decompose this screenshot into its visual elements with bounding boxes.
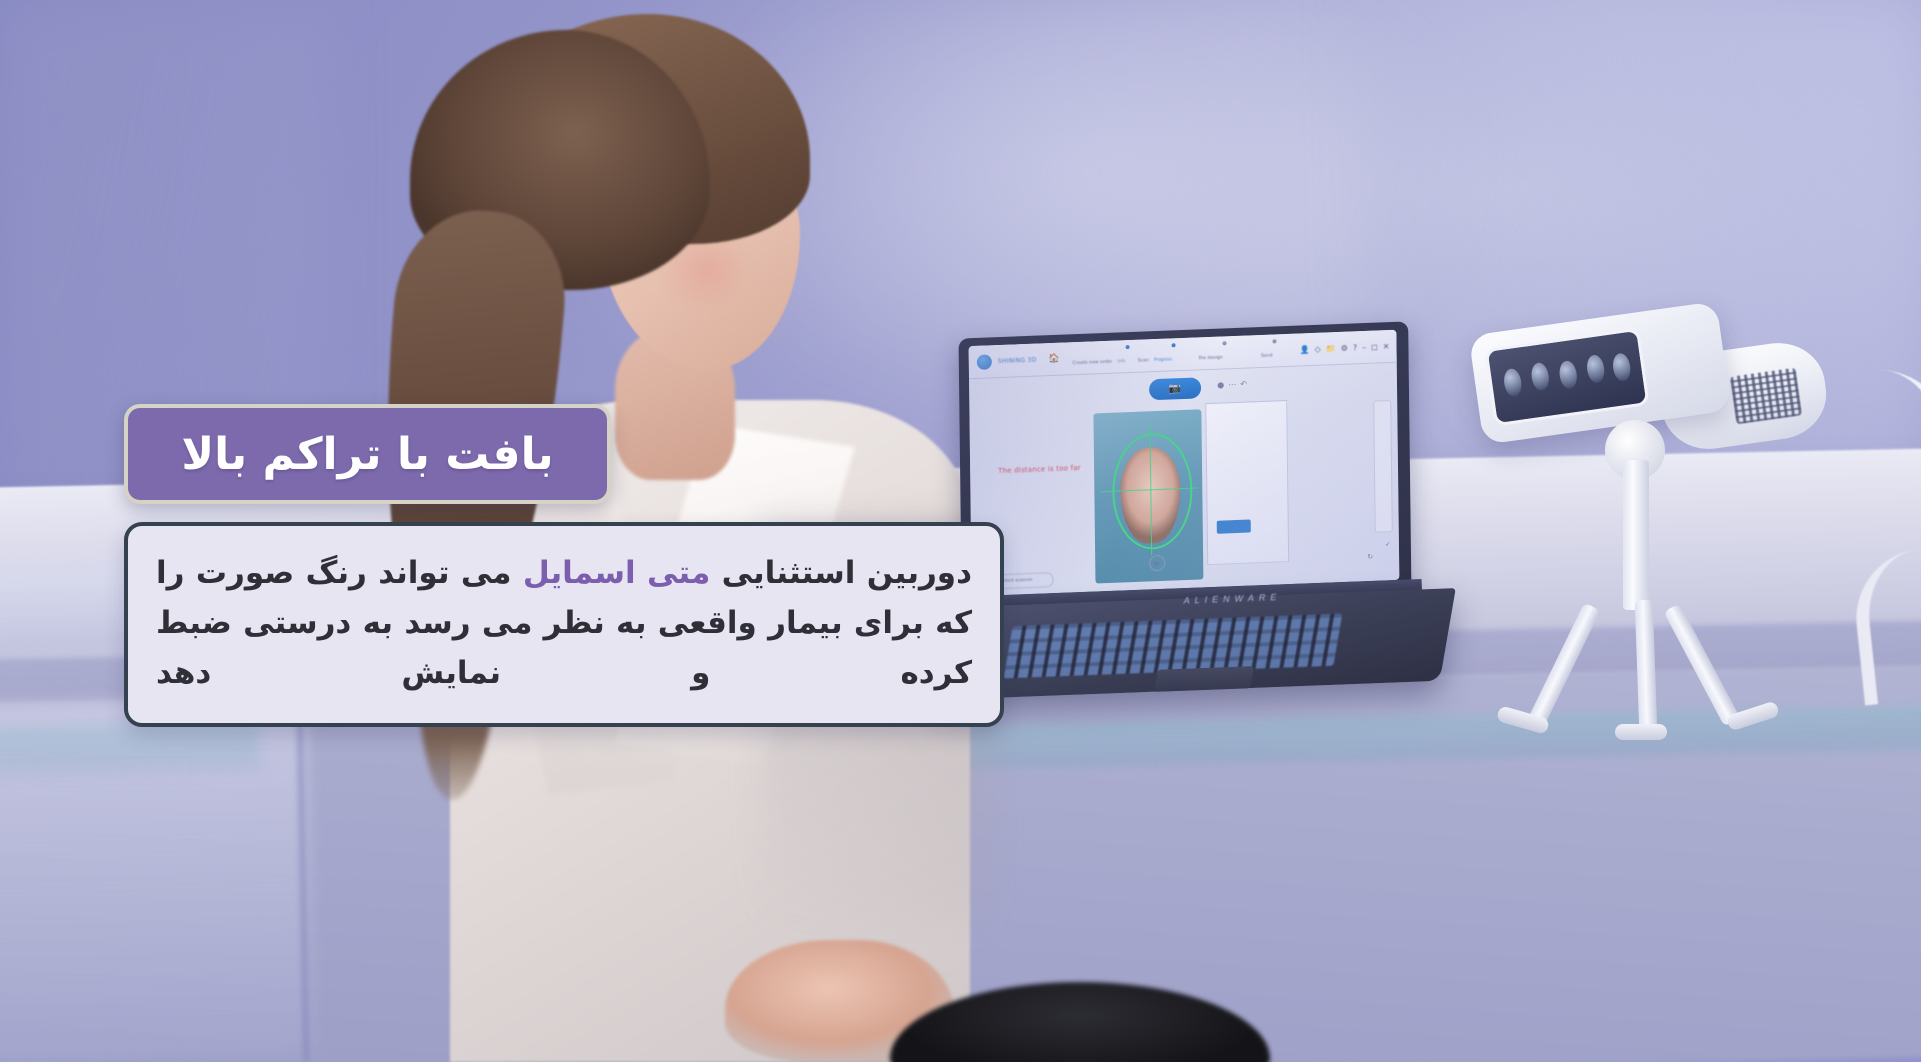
undo-icon[interactable]: ↶: [1240, 380, 1247, 389]
side-document-panel: [1205, 400, 1289, 565]
close-icon[interactable]: ✕: [1383, 342, 1390, 351]
laptop-screen[interactable]: SHINING 3D 🏠 Create new order Info Scan …: [969, 330, 1400, 596]
user-icon[interactable]: 👤: [1300, 345, 1310, 354]
step-sublabel: Info: [1117, 358, 1125, 363]
description-card: دوربین استثنایی متی اسمایل می تواند رنگ …: [124, 522, 1004, 727]
counter-teal-edge-left: [0, 723, 260, 776]
camera-capture-button[interactable]: 📷: [1149, 377, 1201, 400]
workflow-step[interactable]: Send: [1240, 340, 1294, 361]
check-icon[interactable]: ✓: [1385, 540, 1391, 548]
home-icon[interactable]: 🏠: [1049, 354, 1060, 364]
scanner-lens-icon: [1558, 360, 1579, 390]
step-label: Pre design: [1199, 355, 1223, 361]
tripod-leg: [1635, 600, 1658, 731]
scanner-vent: [1730, 368, 1802, 425]
description-paragraph: دوربین استثنایی متی اسمایل می تواند رنگ …: [156, 548, 972, 699]
folder-icon[interactable]: 📁: [1326, 344, 1336, 353]
headline-badge-label: بافت با تراکم بالا: [181, 429, 553, 480]
scanner-lens-icon: [1585, 354, 1606, 384]
app-logo-text: SHINING 3D: [998, 356, 1037, 364]
help-icon[interactable]: ?: [1353, 343, 1357, 352]
laptop-touchpad[interactable]: [1154, 666, 1254, 692]
workspace-tools: ↶ ⋯ ●: [1217, 380, 1247, 390]
tripod-column: [1623, 460, 1649, 610]
tripod-foot: [1615, 724, 1667, 740]
laptop: SHINING 3D 🏠 Create new order Info Scan …: [960, 330, 1480, 730]
step-sublabel: Progress: [1154, 356, 1172, 362]
description-lead: دوربین استثنایی: [710, 555, 972, 591]
tripod-leg: [1664, 603, 1741, 726]
maximize-icon[interactable]: ◻: [1371, 342, 1378, 351]
step-label: Send: [1261, 353, 1273, 358]
window-controls: 👤 ◇ 📁 ⚙ ? – ◻ ✕: [1300, 342, 1390, 354]
right-toolbar[interactable]: [1373, 400, 1393, 533]
tripod-leg: [1527, 603, 1600, 728]
app-workspace: 📷 ↶ ⋯ ● The distance is too far: [969, 362, 1399, 596]
product-name-highlight: متی اسمایل: [523, 555, 710, 591]
workflow-steps: Create new order Info Scan Progress Pre …: [1072, 340, 1294, 368]
app-logo-icon: [977, 354, 992, 370]
distance-warning: The distance is too far: [998, 464, 1081, 475]
scanner-lens-icon: [1611, 352, 1632, 382]
workflow-step[interactable]: Pre design: [1184, 342, 1238, 363]
face-preview: [1093, 409, 1203, 583]
workflow-step[interactable]: Create new order Info: [1072, 347, 1126, 368]
scanner-lens-icon: [1530, 362, 1551, 392]
facial-scanner-device: [1455, 300, 1921, 740]
shield-icon[interactable]: ◇: [1315, 344, 1321, 353]
scanner-lens-icon: [1502, 368, 1523, 398]
more-icon[interactable]: ⋯: [1228, 380, 1236, 389]
step-label: Create new order: [1072, 359, 1112, 366]
gear-icon[interactable]: ⚙: [1341, 343, 1348, 352]
step-label: Scan: [1138, 358, 1149, 363]
headline-badge: بافت با تراکم بالا: [124, 404, 611, 504]
workflow-step[interactable]: Scan Progress: [1128, 345, 1182, 366]
minimize-icon[interactable]: –: [1362, 342, 1366, 351]
dot-icon[interactable]: ●: [1217, 380, 1224, 389]
banner-stage: SHINING 3D 🏠 Create new order Info Scan …: [0, 0, 1921, 1062]
face-alignment-oval: [1112, 432, 1193, 551]
reset-icon[interactable]: ↻: [1367, 553, 1373, 561]
panel-primary-button[interactable]: [1217, 519, 1251, 533]
